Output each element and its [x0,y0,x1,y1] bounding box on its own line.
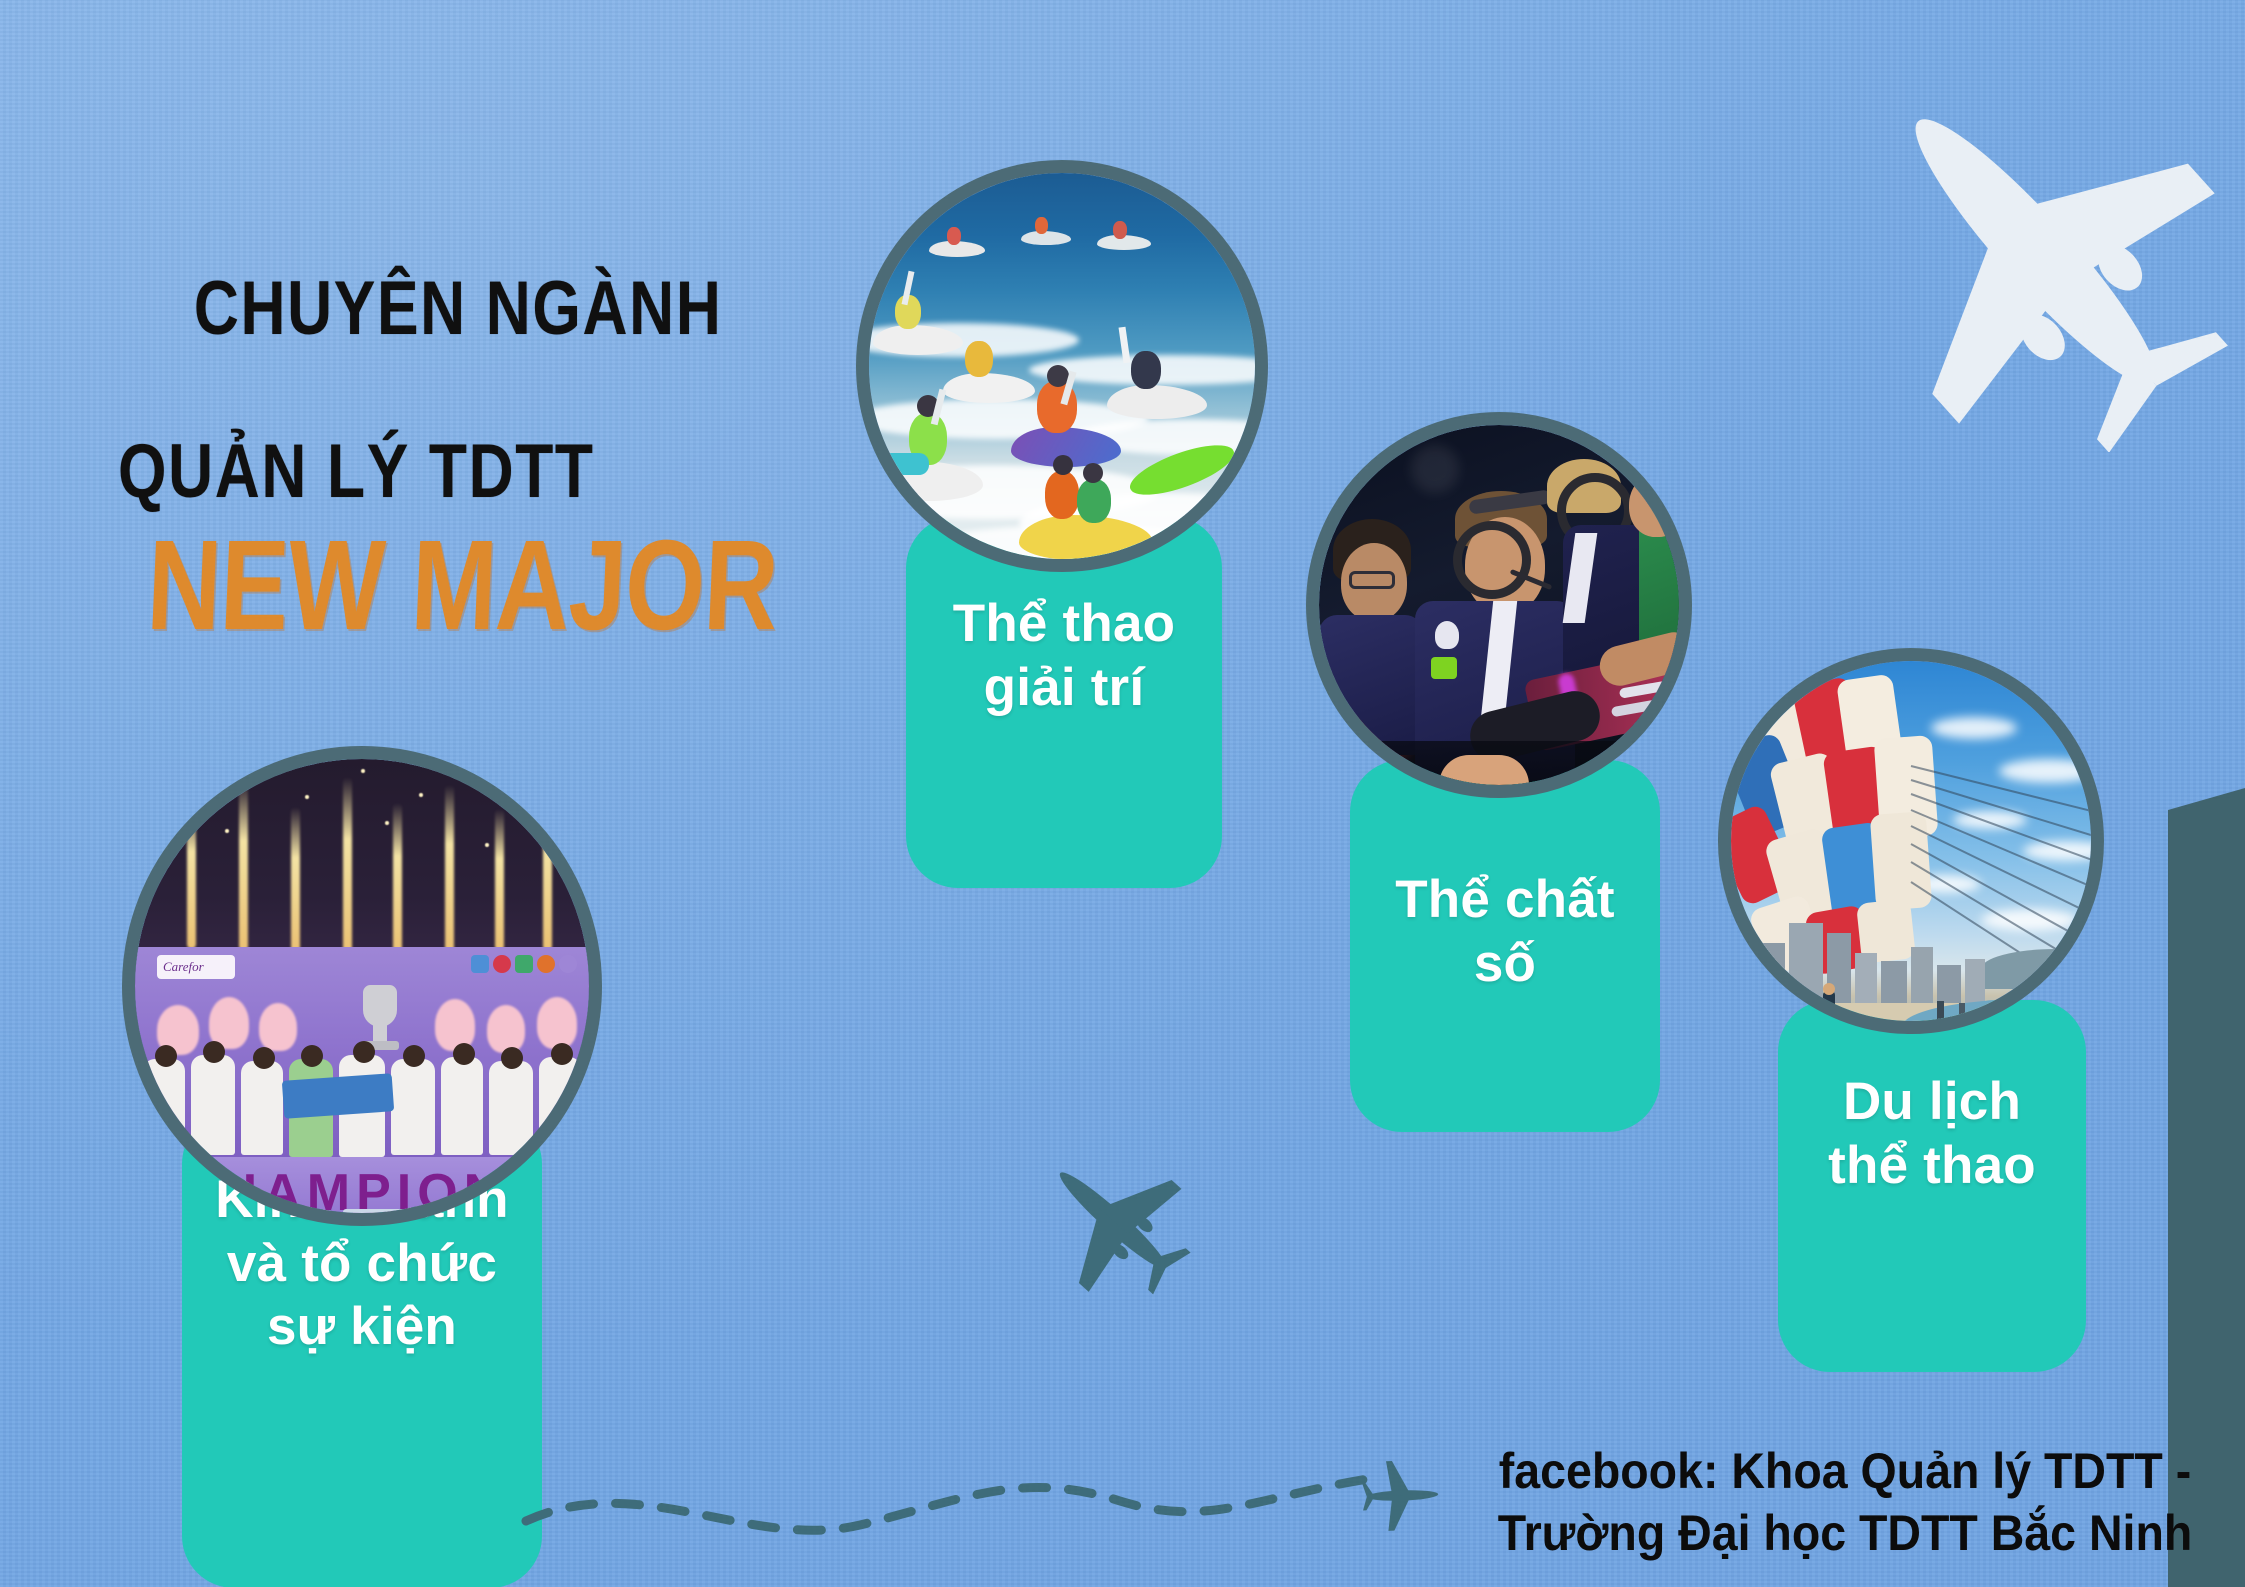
airplane-icon-small [1350,1453,1455,1538]
footer-contact: facebook: Khoa Quản lý TDTT - Trường Đại… [1492,1440,2199,1564]
parasailing-beach-photo [1718,648,2104,1034]
major-label-the-thao-giai-tri: Thể thao giải trí [906,592,1222,719]
new-major-badge: NEW MAJOR [145,522,780,650]
photo-caption: CHAMPIONS [135,1163,589,1213]
championship-ceremony-photo: Carefor [122,746,602,1226]
jetski-racing-photo [856,160,1268,572]
major-label-the-chat-so: Thể chất số [1350,868,1660,995]
major-label-du-lich-the-thao: Du lịch thể thao [1778,1070,2086,1197]
dashed-flight-path [520,1455,1400,1575]
airplane-icon-large [1816,52,2245,452]
esports-gamers-photo [1306,412,1692,798]
title-line-1: CHUYÊN NGÀNH [194,266,723,351]
title-line-2: QUẢN LÝ TDTT [118,435,722,509]
poster-canvas: CHUYÊN NGÀNH QUẢN LÝ TDTT NEW MAJOR Kinh… [0,0,2245,1587]
photo-brand-label: Carefor [163,959,225,974]
airplane-icon-medium [1008,1138,1218,1303]
